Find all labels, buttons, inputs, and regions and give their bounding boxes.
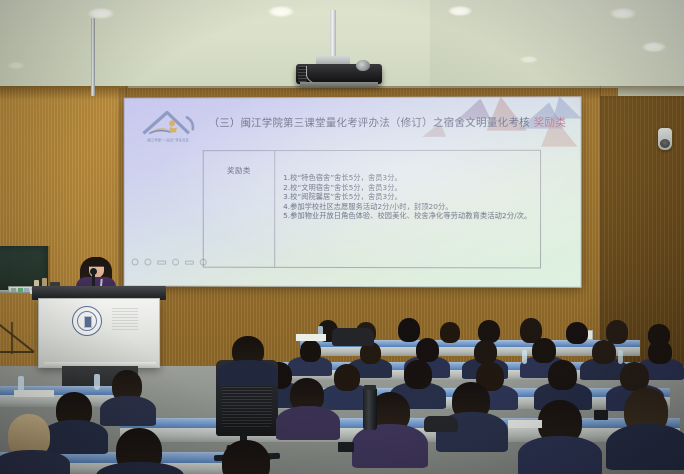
presenter-fringe: [87, 257, 106, 266]
smartphone[interactable]: [338, 442, 354, 452]
student-head: [404, 360, 432, 389]
student-head: [440, 322, 460, 343]
student-head: [398, 318, 420, 342]
decor-polygon-6: [553, 96, 581, 118]
paper-sheet: [14, 390, 54, 397]
presentation-toolbar[interactable]: [132, 259, 207, 266]
slide-switch-icon[interactable]: [172, 259, 179, 266]
backpack: [424, 416, 458, 432]
desk-front-back-1: [300, 347, 640, 356]
university-community-logo-icon: 闽江学院“一站式”学生社区: [138, 107, 207, 143]
lecture-hall-photo: 闽江学院“一站式”学生社区 （三）闽江学院第三课堂量化考评办法（修订）之宿舍文明…: [0, 0, 684, 474]
student-shoulders: [352, 424, 428, 468]
panel-button-1[interactable]: [11, 288, 16, 292]
table-row-header: 奖励类: [204, 151, 275, 267]
slide-title-prefix: （三）: [209, 117, 241, 129]
water-bottle: [94, 374, 100, 390]
audience: [0, 300, 684, 474]
wall-speaker-icon: [658, 128, 672, 150]
panel-button-2[interactable]: [18, 288, 23, 292]
highlighter-icon[interactable]: [157, 260, 166, 264]
ceiling-light-5: [642, 42, 666, 52]
backpack: [332, 328, 374, 346]
student-head: [548, 360, 577, 390]
thermos-bottle: [363, 388, 377, 430]
smartphone[interactable]: [594, 410, 608, 420]
projector-front-panel: [300, 82, 378, 88]
logo-caption: 闽江学院“一站式”学生社区: [147, 137, 189, 142]
slide-title-main: 闽江学院第三课堂量化考评办法（修订）之宿舍文明量化考核: [241, 117, 530, 130]
ceiling-light-7: [8, 62, 24, 69]
projection-screen: 闽江学院“一站式”学生社区 （三）闽江学院第三课堂量化考评办法（修订）之宿舍文明…: [124, 96, 582, 287]
student-head: [334, 364, 360, 391]
paper-sheet: [508, 420, 542, 428]
student-shoulders: [0, 450, 70, 474]
student-shoulders: [518, 436, 602, 474]
student-head: [592, 340, 616, 364]
table-item-4: 4.参加学校社区志愿服务活动2分/小时，封顶20分。: [283, 202, 534, 212]
thermos-cap: [364, 385, 376, 390]
ceiling-light-4: [610, 8, 636, 19]
slide-title-accent: 奖励类: [534, 116, 566, 128]
student-shoulders: [100, 396, 156, 426]
student-shoulders: [606, 424, 684, 470]
table-item-5: 5.参加物业开放日角色体验、校园美化、校舍净化等劳动教育类活动2分/次。: [283, 211, 534, 221]
ceiling-light-6: [520, 56, 538, 63]
water-bottle: [618, 350, 623, 364]
pointer-icon[interactable]: [132, 259, 139, 266]
panel-button-3[interactable]: [24, 288, 29, 292]
projector-mount-pole: [330, 10, 336, 60]
ceiling-light-2: [268, 6, 294, 17]
table-item-1: 1.校“特色宿舍”舍长5分，舍员3分。: [283, 173, 534, 183]
student-shoulders: [42, 420, 108, 454]
table-item-3: 3.校“阅院馨居”舍长5分，舍员3分。: [283, 192, 534, 202]
slide-table: 奖励类 1.校“特色宿舍”舍长5分，舍员3分。 2.校“文明宿舍”舍长5分，舍员…: [203, 150, 541, 269]
student-head: [620, 362, 649, 391]
ceiling-support-pole: [91, 18, 95, 96]
student-head: [566, 322, 588, 344]
table-body: 1.校“特色宿舍”舍长5分，舍员3分。 2.校“文明宿舍”舍长5分，舍员3分。 …: [275, 151, 540, 268]
student-head: [648, 340, 672, 364]
more-icon[interactable]: [200, 259, 207, 266]
slide-title: （三）闽江学院第三课堂量化考评办法（修订）之宿舍文明量化考核 奖励类: [209, 117, 570, 129]
student-head: [300, 340, 321, 362]
table-item-2: 2.校“文明宿舍”舍长5分，舍员3分。: [283, 183, 534, 193]
student-shoulders: [276, 406, 340, 440]
paper-sheet: [296, 334, 326, 341]
pen-icon[interactable]: [144, 259, 151, 266]
student-head: [474, 340, 497, 364]
projector-lens-icon: [356, 60, 370, 71]
student-head: [416, 338, 439, 362]
ceiling-light-3: [448, 6, 472, 16]
student-head: [222, 440, 270, 474]
student-shoulders-foreground: [218, 360, 278, 386]
water-bottle: [522, 350, 527, 364]
student-head: [532, 338, 556, 363]
whiteboard-icon[interactable]: [185, 260, 194, 264]
